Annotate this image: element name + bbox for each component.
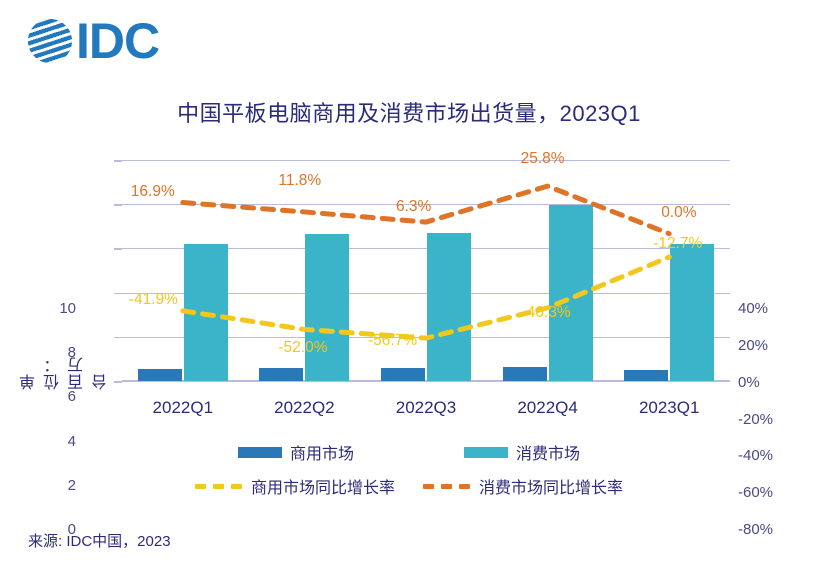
globe-icon	[28, 19, 72, 63]
y-axis-left-tick: 8	[36, 344, 76, 361]
legend-item-commercial-growth[interactable]: 商用市场同比增长率	[195, 474, 395, 498]
growth-lines	[122, 160, 730, 381]
y-axis-tick-mark	[114, 381, 122, 383]
legend-dash-commercial-growth	[195, 484, 243, 489]
source-note: 来源: IDC中国，2023	[28, 530, 171, 551]
data-label-commercial-growth: -41.9%	[129, 291, 178, 309]
chart-title: 中国平板电脑商用及消费市场出货量，2023Q1	[0, 96, 818, 128]
y-axis-tick-mark	[114, 337, 122, 339]
x-axis-label: 2022Q4	[487, 398, 609, 418]
x-axis-label: 2023Q1	[608, 398, 730, 418]
gridline	[122, 381, 730, 382]
data-label-consumer-growth: 0.0%	[661, 204, 696, 222]
y-axis-right-tick: 40%	[738, 300, 808, 317]
legend-label-consumer-growth: 消费市场同比增长率	[479, 474, 623, 498]
y-axis-right-tick: -80%	[738, 521, 808, 538]
x-axis-label: 2022Q2	[244, 398, 366, 418]
legend-label-consumer: 消费市场	[516, 440, 580, 464]
y-axis-tick-mark	[114, 160, 122, 162]
data-label-commercial-growth: -12.7%	[653, 235, 702, 253]
data-label-consumer-growth: 6.3%	[396, 198, 431, 216]
legend-swatch-commercial	[238, 447, 282, 458]
legend-dash-consumer-growth	[423, 484, 471, 489]
y-axis-left-tick: 6	[36, 388, 76, 405]
legend-item-commercial[interactable]: 商用市场	[238, 440, 354, 464]
y-axis-left-tick: 10	[36, 300, 76, 317]
legend-label-commercial-growth: 商用市场同比增长率	[251, 474, 395, 498]
data-label-consumer-growth: 11.8%	[278, 172, 321, 190]
y-axis-tick-mark	[114, 204, 122, 206]
data-label-consumer-growth: 25.8%	[521, 150, 565, 168]
y-axis-right-tick: 0%	[738, 374, 808, 391]
x-axis-label: 2022Q1	[122, 398, 244, 418]
legend-label-commercial: 商用市场	[290, 440, 354, 464]
logo-wordmark: IDC	[76, 16, 159, 66]
legend-row-bars: 商用市场 消费市场	[0, 440, 818, 464]
legend-swatch-consumer	[464, 447, 508, 458]
legend-row-lines: 商用市场同比增长率 消费市场同比增长率	[0, 474, 818, 498]
growth-line-commercial	[183, 257, 669, 338]
data-label-commercial-growth: -56.7%	[368, 332, 417, 350]
data-label-commercial-growth: -52.0%	[278, 339, 327, 357]
y-axis-right-tick: 20%	[738, 337, 808, 354]
chart-legend: 商用市场 消费市场 商用市场同比增长率 消费市场同比增长率	[0, 440, 818, 508]
plot-canvas	[122, 160, 730, 381]
y-axis-tick-mark	[114, 293, 122, 295]
legend-item-consumer-growth[interactable]: 消费市场同比增长率	[423, 474, 623, 498]
legend-item-consumer[interactable]: 消费市场	[464, 440, 580, 464]
data-label-commercial-growth: -40.3%	[522, 304, 571, 322]
y-axis-right-tick: -20%	[738, 411, 808, 428]
idc-logo: IDC	[28, 16, 159, 66]
data-label-consumer-growth: 16.9%	[131, 183, 175, 201]
y-axis-tick-mark	[114, 248, 122, 250]
x-axis-label: 2022Q3	[365, 398, 487, 418]
chart-plot-area: 单位：百万台 108642040%20%0%-20%-40%-60%-80%	[0, 150, 818, 390]
